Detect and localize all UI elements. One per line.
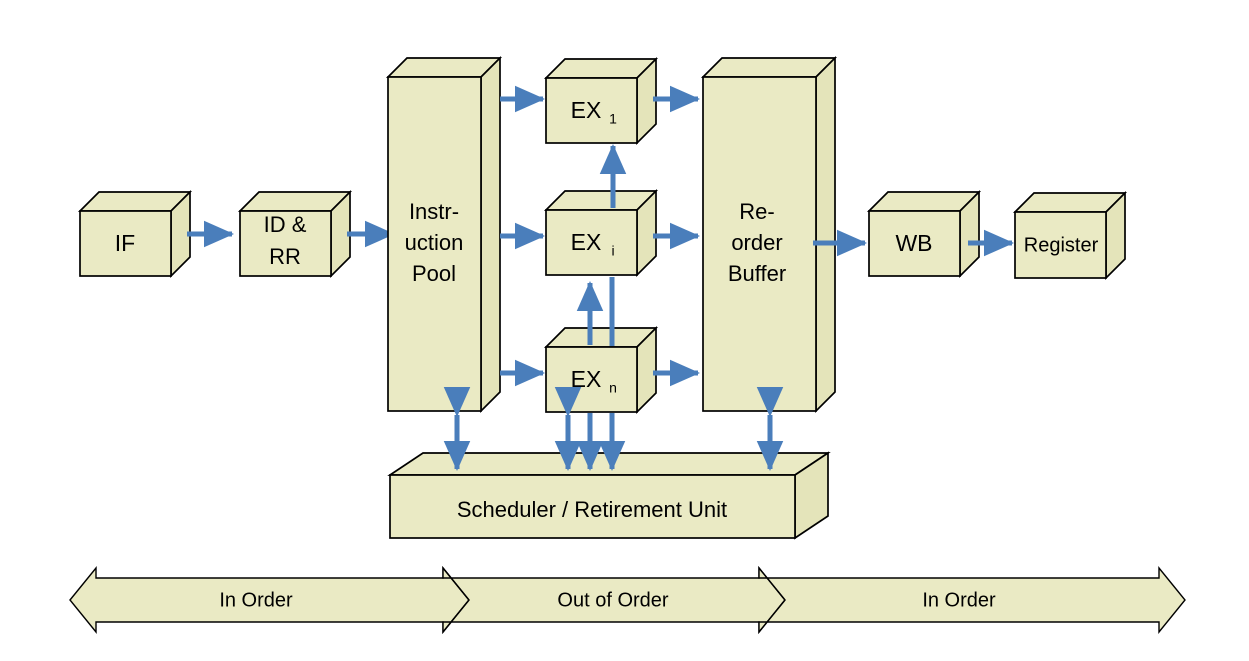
box-if-label: IF <box>115 230 135 256</box>
box-exi-subscript: i <box>611 243 614 259</box>
box-instruction-pool: Instr- uction Pool <box>388 58 500 411</box>
box-reorder-buffer-label-line1: Re- <box>739 199 774 224</box>
ordering-band-label-2: Out of Order <box>557 589 668 611</box>
ordering-band-label-1: In Order <box>219 589 293 611</box>
box-wb: WB <box>869 192 979 276</box>
box-exn-label: EX <box>571 366 602 392</box>
ordering-band-label-3: In Order <box>922 589 996 611</box>
box-scheduler-label: Scheduler / Retirement Unit <box>457 497 727 522</box>
box-instruction-pool-label-line2: uction <box>405 230 464 255</box>
box-instruction-pool-label-line1: Instr- <box>409 199 459 224</box>
box-id-rr-label-line2: RR <box>269 244 301 269</box>
box-reorder-buffer: Re- order Buffer <box>703 58 835 411</box>
box-ex1-subscript: 1 <box>609 111 617 127</box>
box-ex1: EX 1 <box>546 59 656 143</box>
box-if: IF <box>80 192 190 276</box>
box-register: Register <box>1015 193 1125 278</box>
box-register-label: Register <box>1024 234 1099 256</box>
box-exi-label: EX <box>571 229 602 255</box>
box-exn: EX n <box>546 328 656 412</box>
box-exn-subscript: n <box>609 380 617 396</box>
pipeline-diagram: IF ID & RR Instr- uction Pool <box>0 0 1249 661</box>
box-instruction-pool-label-line3: Pool <box>412 261 456 286</box>
box-ex1-label: EX <box>571 97 602 123</box>
box-id-rr-label-line1: ID & <box>264 212 307 237</box>
diagram-canvas: IF ID & RR Instr- uction Pool <box>0 0 1249 661</box>
box-reorder-buffer-label-line2: order <box>731 230 782 255</box>
box-id-rr: ID & RR <box>240 192 350 276</box>
box-exi: EX i <box>546 191 656 275</box>
box-wb-label: WB <box>895 230 932 256</box>
box-reorder-buffer-label-line3: Buffer <box>728 261 786 286</box>
ordering-band: In Order Out of Order In Order <box>70 568 1185 632</box>
